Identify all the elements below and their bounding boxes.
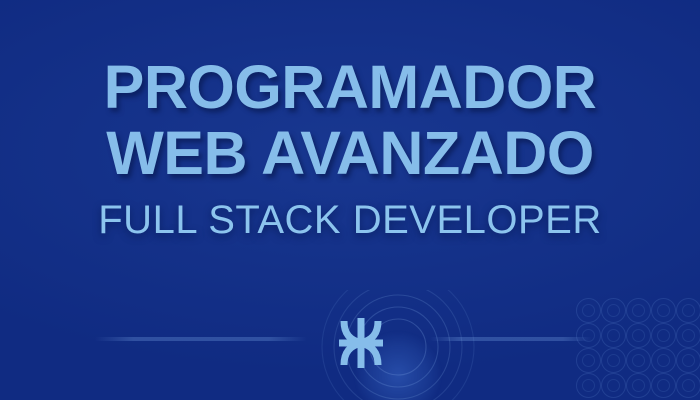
headline-line-2: WEB AVANZADO: [0, 124, 700, 184]
title-block: PROGRAMADOR WEB AVANZADO FULL STACK DEVE…: [0, 58, 700, 240]
subtitle: FULL STACK DEVELOPER: [0, 200, 700, 240]
sun-asterisk-icon: [337, 316, 385, 370]
footer-decoration: [0, 290, 700, 400]
course-title-banner: PROGRAMADOR WEB AVANZADO FULL STACK DEVE…: [0, 0, 700, 400]
divider-line-left: [95, 337, 307, 341]
headline-line-1: PROGRAMADOR: [0, 58, 700, 118]
concentric-arcs-icon: [300, 290, 500, 400]
